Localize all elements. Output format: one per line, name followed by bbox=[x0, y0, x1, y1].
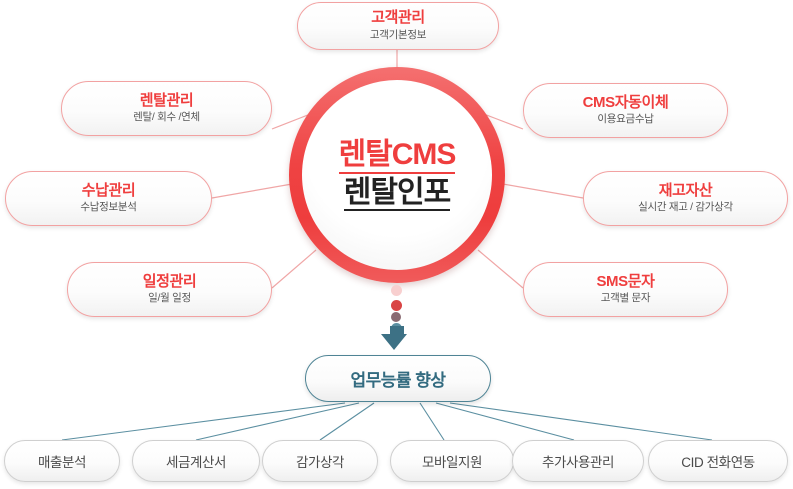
module-title: 수납관리 bbox=[82, 183, 136, 200]
module-subtitle: 이용요금수납 bbox=[597, 114, 653, 126]
output-pill-tax[interactable]: 세금계산서 bbox=[132, 440, 260, 482]
module-node-schedule[interactable]: 일정관리 일/월 일정 bbox=[67, 262, 272, 317]
module-subtitle: 실시간 재고 / 감가상각 bbox=[638, 202, 733, 214]
wire-outcome-sales bbox=[62, 403, 345, 440]
hub-title-secondary: 렌탈인포 bbox=[344, 177, 450, 212]
output-pill-depr[interactable]: 감가상각 bbox=[262, 440, 378, 482]
output-label: CID 전화연동 bbox=[681, 451, 754, 471]
wire-hub-sms bbox=[478, 250, 523, 288]
wire-outcome-mobile bbox=[420, 403, 444, 440]
module-title: SMS문자 bbox=[596, 274, 654, 291]
output-label: 추가사용관리 bbox=[542, 451, 614, 471]
output-label: 매출분석 bbox=[38, 451, 86, 471]
hub-title-primary: 렌탈CMS bbox=[339, 139, 456, 174]
wire-outcome-extrause bbox=[436, 403, 574, 440]
module-title: CMS자동이체 bbox=[583, 95, 669, 112]
module-title: 재고자산 bbox=[659, 183, 713, 200]
flow-arrow-head bbox=[381, 334, 407, 350]
outcome-node[interactable]: 업무능률 향상 bbox=[305, 355, 491, 402]
module-node-inventory[interactable]: 재고자산 실시간 재고 / 감가상각 bbox=[583, 171, 788, 226]
module-node-payment[interactable]: 수납관리 수납정보분석 bbox=[5, 171, 212, 226]
output-label: 모바일지원 bbox=[422, 451, 482, 471]
flow-dot-2 bbox=[391, 300, 402, 311]
module-subtitle: 수납정보분석 bbox=[80, 202, 136, 214]
module-subtitle: 고객별 문자 bbox=[601, 293, 650, 305]
wire-hub-inventory bbox=[503, 184, 583, 198]
flow-dot-3 bbox=[391, 312, 401, 322]
module-node-sms[interactable]: SMS문자 고객별 문자 bbox=[523, 262, 728, 317]
module-title: 고객관리 bbox=[371, 10, 425, 27]
wire-hub-schedule bbox=[272, 250, 316, 288]
module-title: 일정관리 bbox=[143, 274, 197, 291]
wire-outcome-depr bbox=[320, 403, 374, 440]
output-label: 감가상각 bbox=[296, 451, 344, 471]
hub-inner: 렌탈CMS 렌탈인포 bbox=[302, 80, 492, 270]
module-subtitle: 고객기본정보 bbox=[370, 30, 426, 42]
output-pill-sales[interactable]: 매출분석 bbox=[4, 440, 120, 482]
capability-diagram: 렌탈CMS 렌탈인포 고객관리 고객기본정보 렌탈관리 렌탈/ 회수 /연체 수… bbox=[0, 0, 793, 489]
module-node-cms[interactable]: CMS자동이체 이용요금수납 bbox=[523, 83, 728, 138]
module-subtitle: 렌탈/ 회수 /연체 bbox=[133, 112, 200, 124]
module-subtitle: 일/월 일정 bbox=[148, 293, 191, 305]
output-pill-cid[interactable]: CID 전화연동 bbox=[648, 440, 788, 482]
module-title: 렌탈관리 bbox=[140, 93, 194, 110]
outcome-label: 업무능률 향상 bbox=[350, 366, 445, 391]
module-node-customer[interactable]: 고객관리 고객기본정보 bbox=[297, 2, 499, 50]
flow-dot-1 bbox=[391, 285, 402, 296]
hub-circle: 렌탈CMS 렌탈인포 bbox=[289, 67, 505, 283]
output-pill-mobile[interactable]: 모바일지원 bbox=[390, 440, 514, 482]
output-pill-extrause[interactable]: 추가사용관리 bbox=[512, 440, 644, 482]
module-node-rental[interactable]: 렌탈관리 렌탈/ 회수 /연체 bbox=[61, 81, 272, 136]
wire-outcome-cid bbox=[450, 403, 712, 440]
wire-hub-payment bbox=[212, 184, 292, 198]
output-label: 세금계산서 bbox=[166, 451, 226, 471]
wire-outcome-tax bbox=[196, 403, 359, 440]
